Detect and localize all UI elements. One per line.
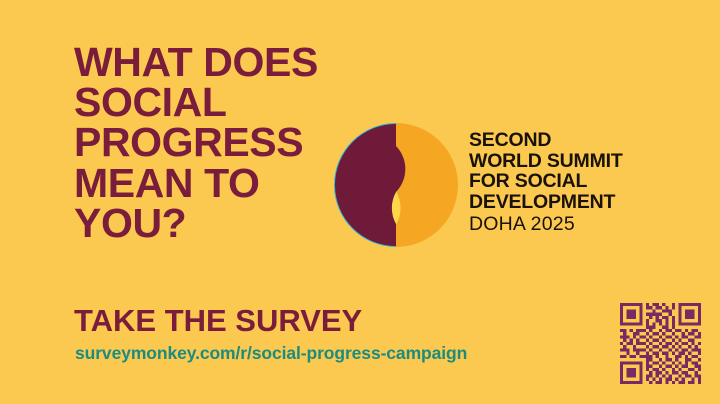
summit-location-year: DOHA 2025 — [469, 213, 669, 236]
headline-line-4: MEAN TO — [74, 163, 364, 203]
second-world-summit-logo — [334, 117, 458, 253]
qr-code[interactable] — [620, 303, 701, 384]
headline-line-1: WHAT DOES — [74, 42, 364, 82]
summit-line-4: DEVELOPMENT — [469, 192, 669, 213]
page-title: WHAT DOES SOCIAL PROGRESS MEAN TO YOU? — [74, 42, 364, 243]
campaign-poster: WHAT DOES SOCIAL PROGRESS MEAN TO YOU? T… — [0, 0, 720, 404]
headline-line-3: PROGRESS — [74, 122, 364, 162]
headline-line-5: YOU? — [74, 203, 364, 243]
summit-line-2: WORLD SUMMIT — [469, 151, 669, 172]
survey-url-link[interactable]: surveymonkey.com/r/social-progress-campa… — [75, 345, 467, 363]
summit-line-3: FOR SOCIAL — [469, 171, 669, 192]
headline-line-2: SOCIAL — [74, 82, 364, 122]
take-the-survey-label: TAKE THE SURVEY — [74, 305, 362, 336]
summit-line-1: SECOND — [469, 130, 669, 151]
summit-wordmark: SECOND WORLD SUMMIT FOR SOCIAL DEVELOPME… — [469, 130, 669, 236]
